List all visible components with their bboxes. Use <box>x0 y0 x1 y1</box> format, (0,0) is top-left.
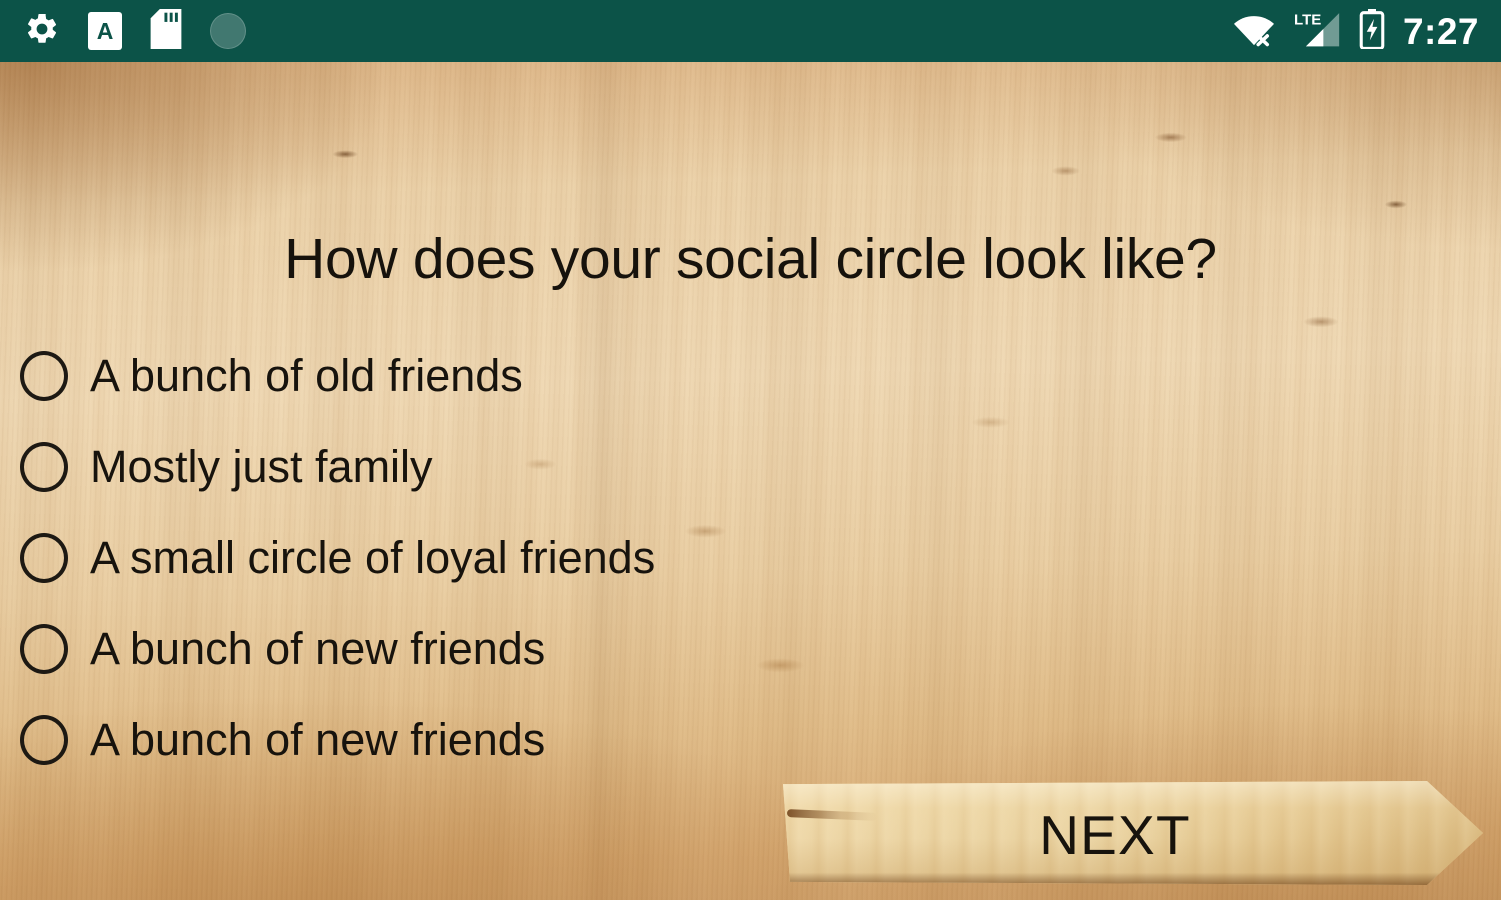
app-badge-icon: A <box>88 12 122 50</box>
settings-gear-icon <box>24 11 60 52</box>
app-screen: A <box>0 0 1501 900</box>
option-label-3: A small circle of loyal friends <box>90 535 655 580</box>
dim-circle-icon <box>210 13 246 49</box>
status-bar-clock: 7:27 <box>1403 13 1479 50</box>
option-label-5: A bunch of new friends <box>90 717 545 762</box>
option-row-5[interactable]: A bunch of new friends <box>0 694 1501 785</box>
radio-button-icon-3[interactable] <box>20 533 68 583</box>
battery-charging-icon <box>1359 9 1385 54</box>
radio-button-icon-4[interactable] <box>20 624 68 674</box>
radio-button-icon-2[interactable] <box>20 442 68 492</box>
option-label-2: Mostly just family <box>90 444 433 489</box>
radio-button-icon-1[interactable] <box>20 351 68 401</box>
status-bar-left-icons: A <box>0 9 246 54</box>
status-bar-right-icons: LTE 7:27 <box>1233 9 1501 54</box>
option-label-1: A bunch of old friends <box>90 353 523 398</box>
sd-card-icon <box>150 9 182 54</box>
lte-signal-icon: LTE <box>1293 10 1341 53</box>
options-list: A bunch of old friends Mostly just famil… <box>0 330 1501 785</box>
next-button[interactable]: NEXT <box>783 781 1483 885</box>
page-title: How does your social circle look like? <box>0 226 1501 292</box>
option-row-4[interactable]: A bunch of new friends <box>0 603 1501 694</box>
next-button-label: NEXT <box>1039 808 1191 863</box>
option-row-1[interactable]: A bunch of old friends <box>0 330 1501 421</box>
status-bar: A <box>0 0 1501 62</box>
app-badge-letter: A <box>97 20 114 43</box>
svg-text:LTE: LTE <box>1294 11 1321 28</box>
quiz-content: How does your social circle look like? A… <box>0 62 1501 900</box>
option-row-2[interactable]: Mostly just family <box>0 421 1501 512</box>
option-row-3[interactable]: A small circle of loyal friends <box>0 512 1501 603</box>
wifi-disconnected-icon <box>1233 11 1275 52</box>
option-label-4: A bunch of new friends <box>90 626 545 671</box>
radio-button-icon-5[interactable] <box>20 715 68 765</box>
